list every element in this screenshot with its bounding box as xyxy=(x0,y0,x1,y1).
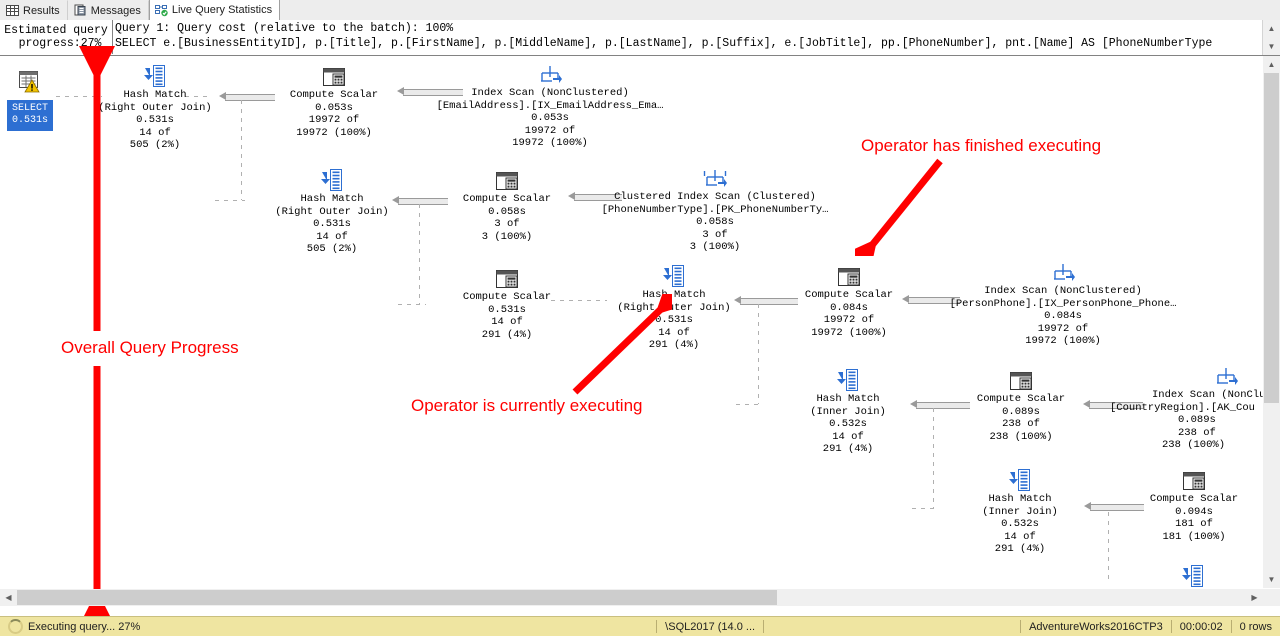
operator-time: 0.089s xyxy=(1110,414,1263,427)
status-database-label: AdventureWorks2016CTP3 xyxy=(1029,621,1163,633)
connector-hash5-down xyxy=(1108,512,1109,582)
plan-horizontal-scroll-thumb[interactable] xyxy=(17,590,777,605)
operator-rows: 238 of xyxy=(962,418,1080,431)
operator-time: 0.053s xyxy=(275,102,393,115)
operator-total: 19972 (100%) xyxy=(415,137,685,150)
operator-compute-scalar-2[interactable]: Compute Scalar 0.058s 3 of 3 (100%) xyxy=(448,166,566,243)
tab-live-query-statistics-label: Live Query Statistics xyxy=(172,4,272,16)
connector-hash2-down xyxy=(419,204,420,304)
tab-results[interactable]: Results xyxy=(0,0,68,20)
operator-name: Index Scan (NonClustered) xyxy=(930,285,1196,298)
operator-rows: 14 of xyxy=(448,316,566,329)
annotation-executing-arrow xyxy=(562,294,672,409)
operator-subname: (Inner Join) xyxy=(790,406,906,419)
query-text-block: Query 1: Query cost (relative to the bat… xyxy=(115,20,1263,55)
hash-match-icon xyxy=(265,166,399,192)
scrollbar-corner xyxy=(1263,589,1280,606)
operator-hash-match-5[interactable]: Hash Match (Inner Join) 0.532s 14 of 291… xyxy=(962,466,1078,556)
operator-time: 0.532s xyxy=(962,518,1078,531)
index-scan-icon xyxy=(930,258,1196,284)
results-pane-tabstrip: Results Messages Live Query Statistics xyxy=(0,0,1280,21)
connector-cs5-arrow xyxy=(910,400,970,409)
status-execution-label: Executing query... 27% xyxy=(28,621,140,633)
status-server-label: \SQL2017 (14.0 ... xyxy=(665,621,755,633)
compute-scalar-icon xyxy=(275,62,393,88)
connector-hash2-left xyxy=(215,200,245,201)
hash-match-icon xyxy=(1135,562,1251,588)
operator-compute-scalar-1[interactable]: Compute Scalar 0.053s 19972 of 19972 (10… xyxy=(275,62,393,139)
operator-time: 0.058s xyxy=(595,216,835,229)
operator-select[interactable]: SELECT 0.531s xyxy=(8,68,52,130)
plan-scroll-right-icon[interactable]: ▶ xyxy=(1246,589,1263,606)
document-icon xyxy=(74,4,87,17)
operator-compute-scalar-5[interactable]: Compute Scalar 0.089s 238 of 238 (100%) xyxy=(962,366,1080,443)
operator-time: 0.532s xyxy=(790,418,906,431)
operator-index-scan-1[interactable]: Index Scan (NonClustered) [EmailAddress]… xyxy=(415,60,685,150)
operator-total: 3 (100%) xyxy=(448,231,566,244)
operator-time: 0.531s xyxy=(265,218,399,231)
operator-subname: [CountryRegion].[AK_Cou xyxy=(1110,402,1263,415)
operator-rows: 181 of xyxy=(1135,518,1253,531)
spinner-icon xyxy=(8,619,23,634)
annotation-finished-label: Operator has finished executing xyxy=(861,136,1101,156)
tab-messages[interactable]: Messages xyxy=(68,0,149,20)
select-cost: 0.531s xyxy=(12,115,48,126)
operator-total: 3 (100%) xyxy=(595,241,835,254)
operator-time: 0.089s xyxy=(962,406,1080,419)
index-scan-icon xyxy=(1110,362,1263,388)
compute-scalar-icon xyxy=(448,166,566,192)
operator-name: Hash Match xyxy=(962,493,1078,506)
operator-hash-match-2[interactable]: Hash Match (Right Outer Join) 0.531s 14 … xyxy=(265,166,399,256)
operator-rows: 3 of xyxy=(448,218,566,231)
operator-time: 0.053s xyxy=(415,112,685,125)
operator-name: Compute Scalar xyxy=(962,393,1080,406)
compute-scalar-icon xyxy=(1135,466,1253,492)
operator-time: 0.084s xyxy=(930,310,1196,323)
operator-subname: [PhoneNumberType].[PK_PhoneNumberTy… xyxy=(595,204,835,217)
operator-name: Compute Scalar xyxy=(790,289,908,302)
clustered-index-scan-icon xyxy=(595,164,835,190)
tab-messages-label: Messages xyxy=(91,5,141,17)
operator-total: 238 (100%) xyxy=(962,431,1080,444)
operator-compute-scalar-6[interactable]: Compute Scalar 0.094s 181 of 181 (100%) xyxy=(1135,466,1253,543)
operator-compute-scalar-3[interactable]: Compute Scalar 0.531s 14 of 291 (4%) xyxy=(448,264,566,341)
query-sql-line: SELECT e.[BusinessEntityID], p.[Title], … xyxy=(115,36,1263,51)
plan-horizontal-scrollbar[interactable]: ◀ ▶ xyxy=(0,589,1263,606)
hash-match-icon xyxy=(962,466,1078,492)
compute-scalar-icon xyxy=(790,262,908,288)
connector-cs4-arrow xyxy=(734,296,798,305)
hash-match-icon xyxy=(790,366,906,392)
annotation-finished-arrow xyxy=(855,156,945,261)
operator-time: 0.084s xyxy=(790,302,908,315)
operator-rows: 3 of xyxy=(595,229,835,242)
operator-hash-match-6[interactable]: Hash Match xyxy=(1135,562,1251,588)
plan-scroll-left-icon[interactable]: ◀ xyxy=(0,589,17,606)
status-rows: 0 rows xyxy=(1232,617,1280,636)
connector-cs3-left xyxy=(398,304,426,305)
connector-cs2-arrow xyxy=(392,196,448,205)
select-warning-icon xyxy=(16,81,44,98)
annotation-overall-progress-arrow-up xyxy=(76,46,122,341)
annotation-overall-progress-label: Overall Query Progress xyxy=(61,338,239,358)
connector-hash5-left xyxy=(912,508,934,509)
live-stats-icon xyxy=(155,4,168,17)
tab-live-query-statistics[interactable]: Live Query Statistics xyxy=(149,0,280,20)
operator-subname: (Inner Join) xyxy=(962,506,1078,519)
operator-index-scan-3[interactable]: Index Scan (NonClu [CountryRegion].[AK_C… xyxy=(1110,362,1263,452)
operator-rows: 19972 of xyxy=(930,323,1196,336)
operator-name: Index Scan (NonClustered) xyxy=(415,87,685,100)
operator-name: Compute Scalar xyxy=(1135,493,1253,506)
header-vertical-scrollbar[interactable]: ▲ ▼ xyxy=(1262,20,1280,55)
status-execution: Executing query... 27% xyxy=(0,617,148,636)
operator-rows: 238 of xyxy=(1110,427,1263,440)
operator-subname: [EmailAddress].[IX_EmailAddress_Ema… xyxy=(415,100,685,113)
operator-name: Hash Match xyxy=(265,193,399,206)
status-elapsed: 00:00:02 xyxy=(1172,617,1231,636)
operator-hash-match-4[interactable]: Hash Match (Inner Join) 0.532s 14 of 291… xyxy=(790,366,906,456)
status-server: \SQL2017 (14.0 ... xyxy=(657,617,763,636)
estimated-progress-line1: Estimated query xyxy=(4,24,108,37)
operator-clustered-index-scan-1[interactable]: Clustered Index Scan (Clustered) [PhoneN… xyxy=(595,164,835,254)
execution-plan-canvas[interactable]: SELECT 0.531s xyxy=(0,56,1263,588)
operator-compute-scalar-4[interactable]: Compute Scalar 0.084s 19972 of 19972 (10… xyxy=(790,262,908,339)
plan-vertical-scrollbar[interactable]: ▲ ▼ xyxy=(1263,56,1280,588)
operator-rows: 19972 of xyxy=(415,125,685,138)
operator-subname: [PersonPhone].[IX_PersonPhone_Phone… xyxy=(930,298,1196,311)
operator-time: 0.094s xyxy=(1135,506,1253,519)
operator-total: 505 (2%) xyxy=(265,243,399,256)
connector-hash1-down xyxy=(241,100,242,200)
plan-vertical-scroll-thumb[interactable] xyxy=(1264,73,1279,403)
operator-name: Clustered Index Scan (Clustered) xyxy=(595,191,835,204)
connector-hash3-down xyxy=(758,304,759,404)
header-scroll-down-icon[interactable]: ▼ xyxy=(1263,38,1280,55)
operator-subname: (Right Outer Join) xyxy=(265,206,399,219)
plan-scroll-up-icon[interactable]: ▲ xyxy=(1263,56,1280,73)
operator-total: 181 (100%) xyxy=(1135,531,1253,544)
compute-scalar-icon xyxy=(962,366,1080,392)
compute-scalar-icon xyxy=(448,264,566,290)
operator-time: 0.531s xyxy=(448,304,566,317)
connector-hash4-down xyxy=(933,408,934,508)
operator-rows: 19972 of xyxy=(790,314,908,327)
header-scroll-up-icon[interactable]: ▲ xyxy=(1263,20,1280,37)
hash-match-icon xyxy=(607,262,741,288)
operator-name: Compute Scalar xyxy=(448,193,566,206)
tab-results-label: Results xyxy=(23,5,60,17)
status-elapsed-label: 00:00:02 xyxy=(1180,621,1223,633)
operator-name: Hash Match xyxy=(790,393,906,406)
plan-scroll-down-icon[interactable]: ▼ xyxy=(1263,571,1280,588)
operator-total: 19972 (100%) xyxy=(275,127,393,140)
status-database: AdventureWorks2016CTP3 xyxy=(1021,617,1171,636)
connector-cs1-arrow xyxy=(219,92,275,101)
operator-index-scan-2[interactable]: Index Scan (NonClustered) [PersonPhone].… xyxy=(930,258,1196,348)
status-bar: Executing query... 27% \SQL2017 (14.0 ..… xyxy=(0,616,1280,636)
operator-total: 291 (4%) xyxy=(448,329,566,342)
operator-total: 291 (4%) xyxy=(962,543,1078,556)
operator-total: 19972 (100%) xyxy=(790,327,908,340)
status-rows-label: 0 rows xyxy=(1240,621,1272,633)
operator-rows: 19972 of xyxy=(275,114,393,127)
grid-icon xyxy=(6,4,19,17)
operator-total: 238 (100%) xyxy=(1110,439,1263,452)
operator-total: 291 (4%) xyxy=(790,443,906,456)
query-plan-header: Estimated query progress:27% Query 1: Qu… xyxy=(0,20,1280,56)
operator-name: Compute Scalar xyxy=(448,291,566,304)
operator-name: Compute Scalar xyxy=(275,89,393,102)
connector-hash4-left xyxy=(736,404,758,405)
operator-rows: 14 of xyxy=(265,231,399,244)
operator-total: 19972 (100%) xyxy=(930,335,1196,348)
operator-rows: 14 of xyxy=(790,431,906,444)
operator-time: 0.058s xyxy=(448,206,566,219)
operator-rows: 14 of xyxy=(962,531,1078,544)
query-cost-line: Query 1: Query cost (relative to the bat… xyxy=(115,21,1263,36)
select-label: SELECT xyxy=(12,103,48,114)
index-scan-icon xyxy=(415,60,685,86)
operator-name: Index Scan (NonClu xyxy=(1110,389,1263,402)
status-user xyxy=(764,617,1020,636)
